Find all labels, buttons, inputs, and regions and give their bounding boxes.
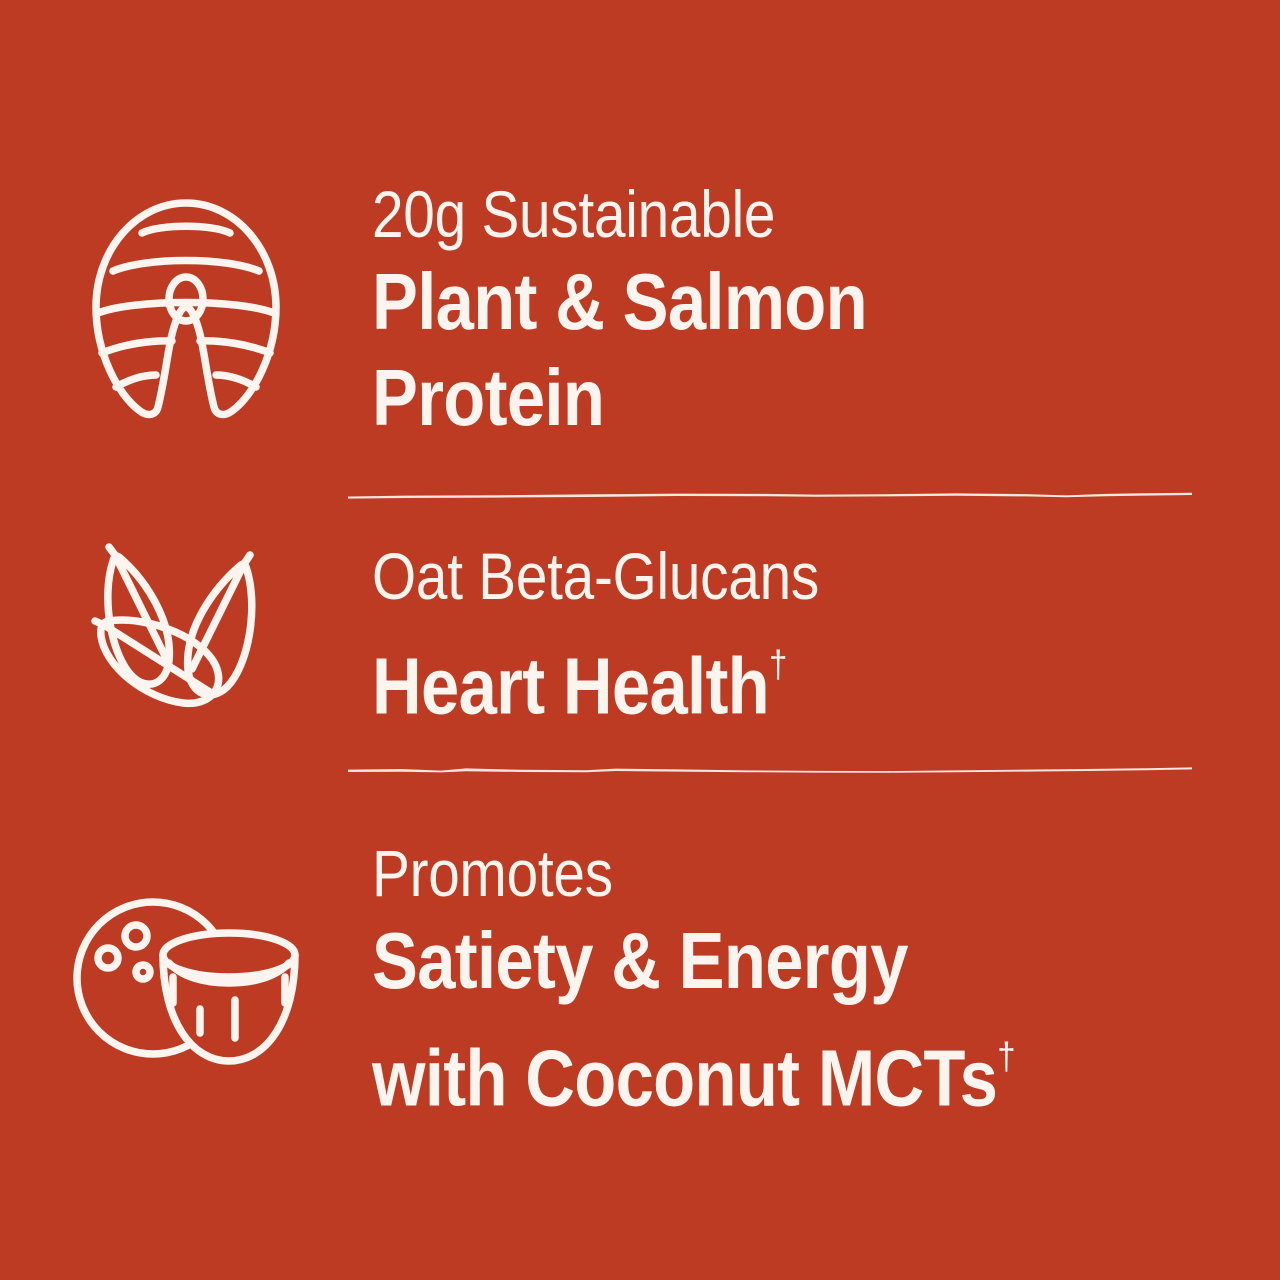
oats-footnote-marker: † — [769, 643, 787, 686]
product-benefits-panel: 20g Sustainable Plant & Salmon Protein — [0, 0, 1280, 1280]
coconut-bold-line-2: with Coconut MCTs† — [372, 1009, 1153, 1126]
oats-icon-cell — [0, 543, 372, 728]
coconut-icon — [69, 893, 304, 1068]
salmon-light-line: 20g Sustainable — [372, 174, 1153, 254]
oats-light-line: Oat Beta-Glucans — [372, 535, 1153, 617]
hand-drawn-rule-icon — [346, 487, 1194, 503]
divider-2 — [346, 762, 1194, 778]
salmon-bold-line-2: Protein — [372, 350, 1153, 446]
coconut-light-line: Promotes — [372, 833, 1153, 913]
hand-drawn-rule-icon — [346, 762, 1194, 778]
coconut-bold-text: with Coconut MCTs — [372, 1034, 997, 1123]
feature-row-coconut: Promotes Satiety & Energy with Coconut M… — [0, 815, 1280, 1145]
coconut-bold-line-1: Satiety & Energy — [372, 913, 1153, 1009]
salmon-bold-line-1: Plant & Salmon — [372, 254, 1153, 350]
salmon-text-cell: 20g Sustainable Plant & Salmon Protein — [372, 174, 1280, 446]
coconut-text-cell: Promotes Satiety & Energy with Coconut M… — [372, 833, 1280, 1126]
oat-grains-icon — [89, 543, 284, 728]
oats-text-cell: Oat Beta-Glucans Heart Health† — [372, 535, 1280, 734]
oats-bold-line-1: Heart Health† — [372, 617, 1153, 734]
salmon-icon-cell — [0, 195, 372, 425]
coconut-footnote-marker: † — [997, 1035, 1015, 1078]
coconut-icon-cell — [0, 893, 372, 1068]
salmon-fillet-icon — [86, 195, 286, 425]
oats-bold-text: Heart Health — [372, 642, 769, 731]
feature-row-salmon: 20g Sustainable Plant & Salmon Protein — [0, 140, 1280, 480]
feature-row-oats: Oat Beta-Glucans Heart Health† — [0, 520, 1280, 750]
divider-1 — [346, 487, 1194, 503]
